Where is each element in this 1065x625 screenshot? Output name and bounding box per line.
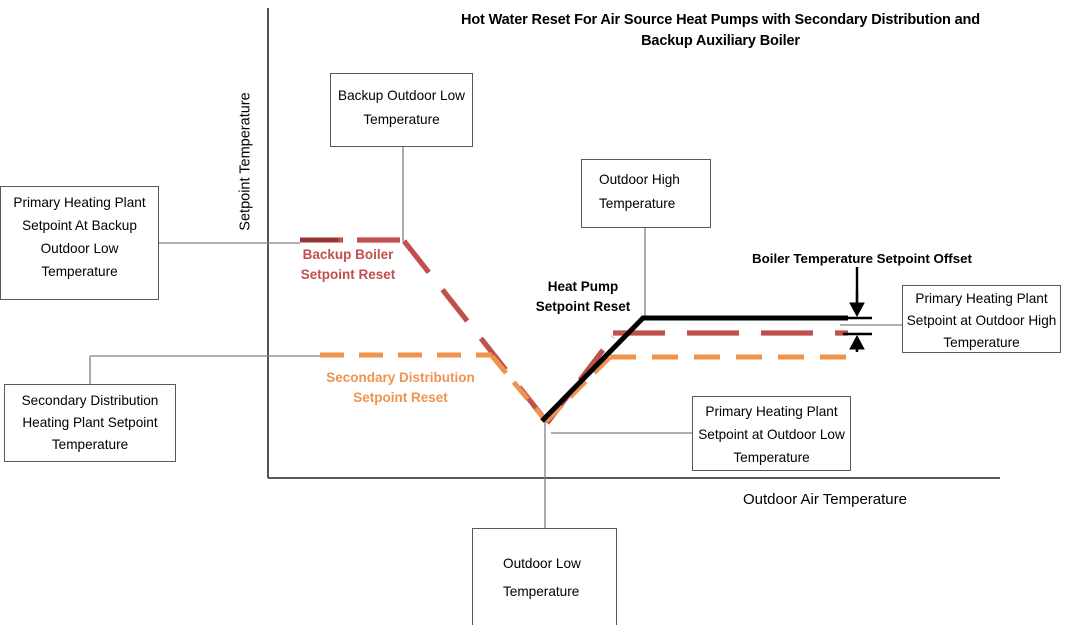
series-label-heat-pump-setpoint-reset: Heat Pump Setpoint Reset (531, 277, 635, 316)
page-title: Hot Water Reset For Air Source Heat Pump… (443, 10, 998, 52)
callout-outdoor-low-temperature: Outdoor Low Temperature (472, 528, 617, 625)
callout-backup-outdoor-low-temperature: Backup Outdoor Low Temperature (330, 73, 473, 147)
y-axis-label: Setpoint Temperature (238, 64, 255, 260)
offset-indicator-group (843, 290, 872, 352)
series-label-boiler-temperature-setpoint-offset: Boiler Temperature Setpoint Offset (740, 251, 984, 266)
series-label-secondary-distribution-setpoint-reset: Secondary Distribution Setpoint Reset (318, 368, 483, 407)
callout-primary-heating-plant-setpoint-at-outdoor-high-temperature: Primary Heating Plant Setpoint at Outdoo… (902, 285, 1061, 353)
x-axis-label: Outdoor Air Temperature (705, 491, 945, 508)
callout-primary-heating-plant-setpoint-at-outdoor-low-temperature: Primary Heating Plant Setpoint at Outdoo… (692, 396, 851, 471)
secondary-dist-ascending-segment (546, 357, 610, 421)
callout-outdoor-high-temperature: Outdoor High Temperature (581, 159, 711, 228)
callout-primary-heating-plant-setpoint-at-backup-outdoor-low-temperature: Primary Heating Plant Setpoint At Backup… (0, 186, 159, 300)
series-label-backup-boiler-setpoint-reset: Backup Boiler Setpoint Reset (300, 245, 396, 284)
secondary-dist-descending-segment (492, 356, 546, 421)
diagram-canvas: Hot Water Reset For Air Source Heat Pump… (0, 0, 1065, 625)
callout-secondary-distribution-heating-plant-setpoint-temperature: Secondary Distribution Heating Plant Set… (4, 384, 176, 462)
